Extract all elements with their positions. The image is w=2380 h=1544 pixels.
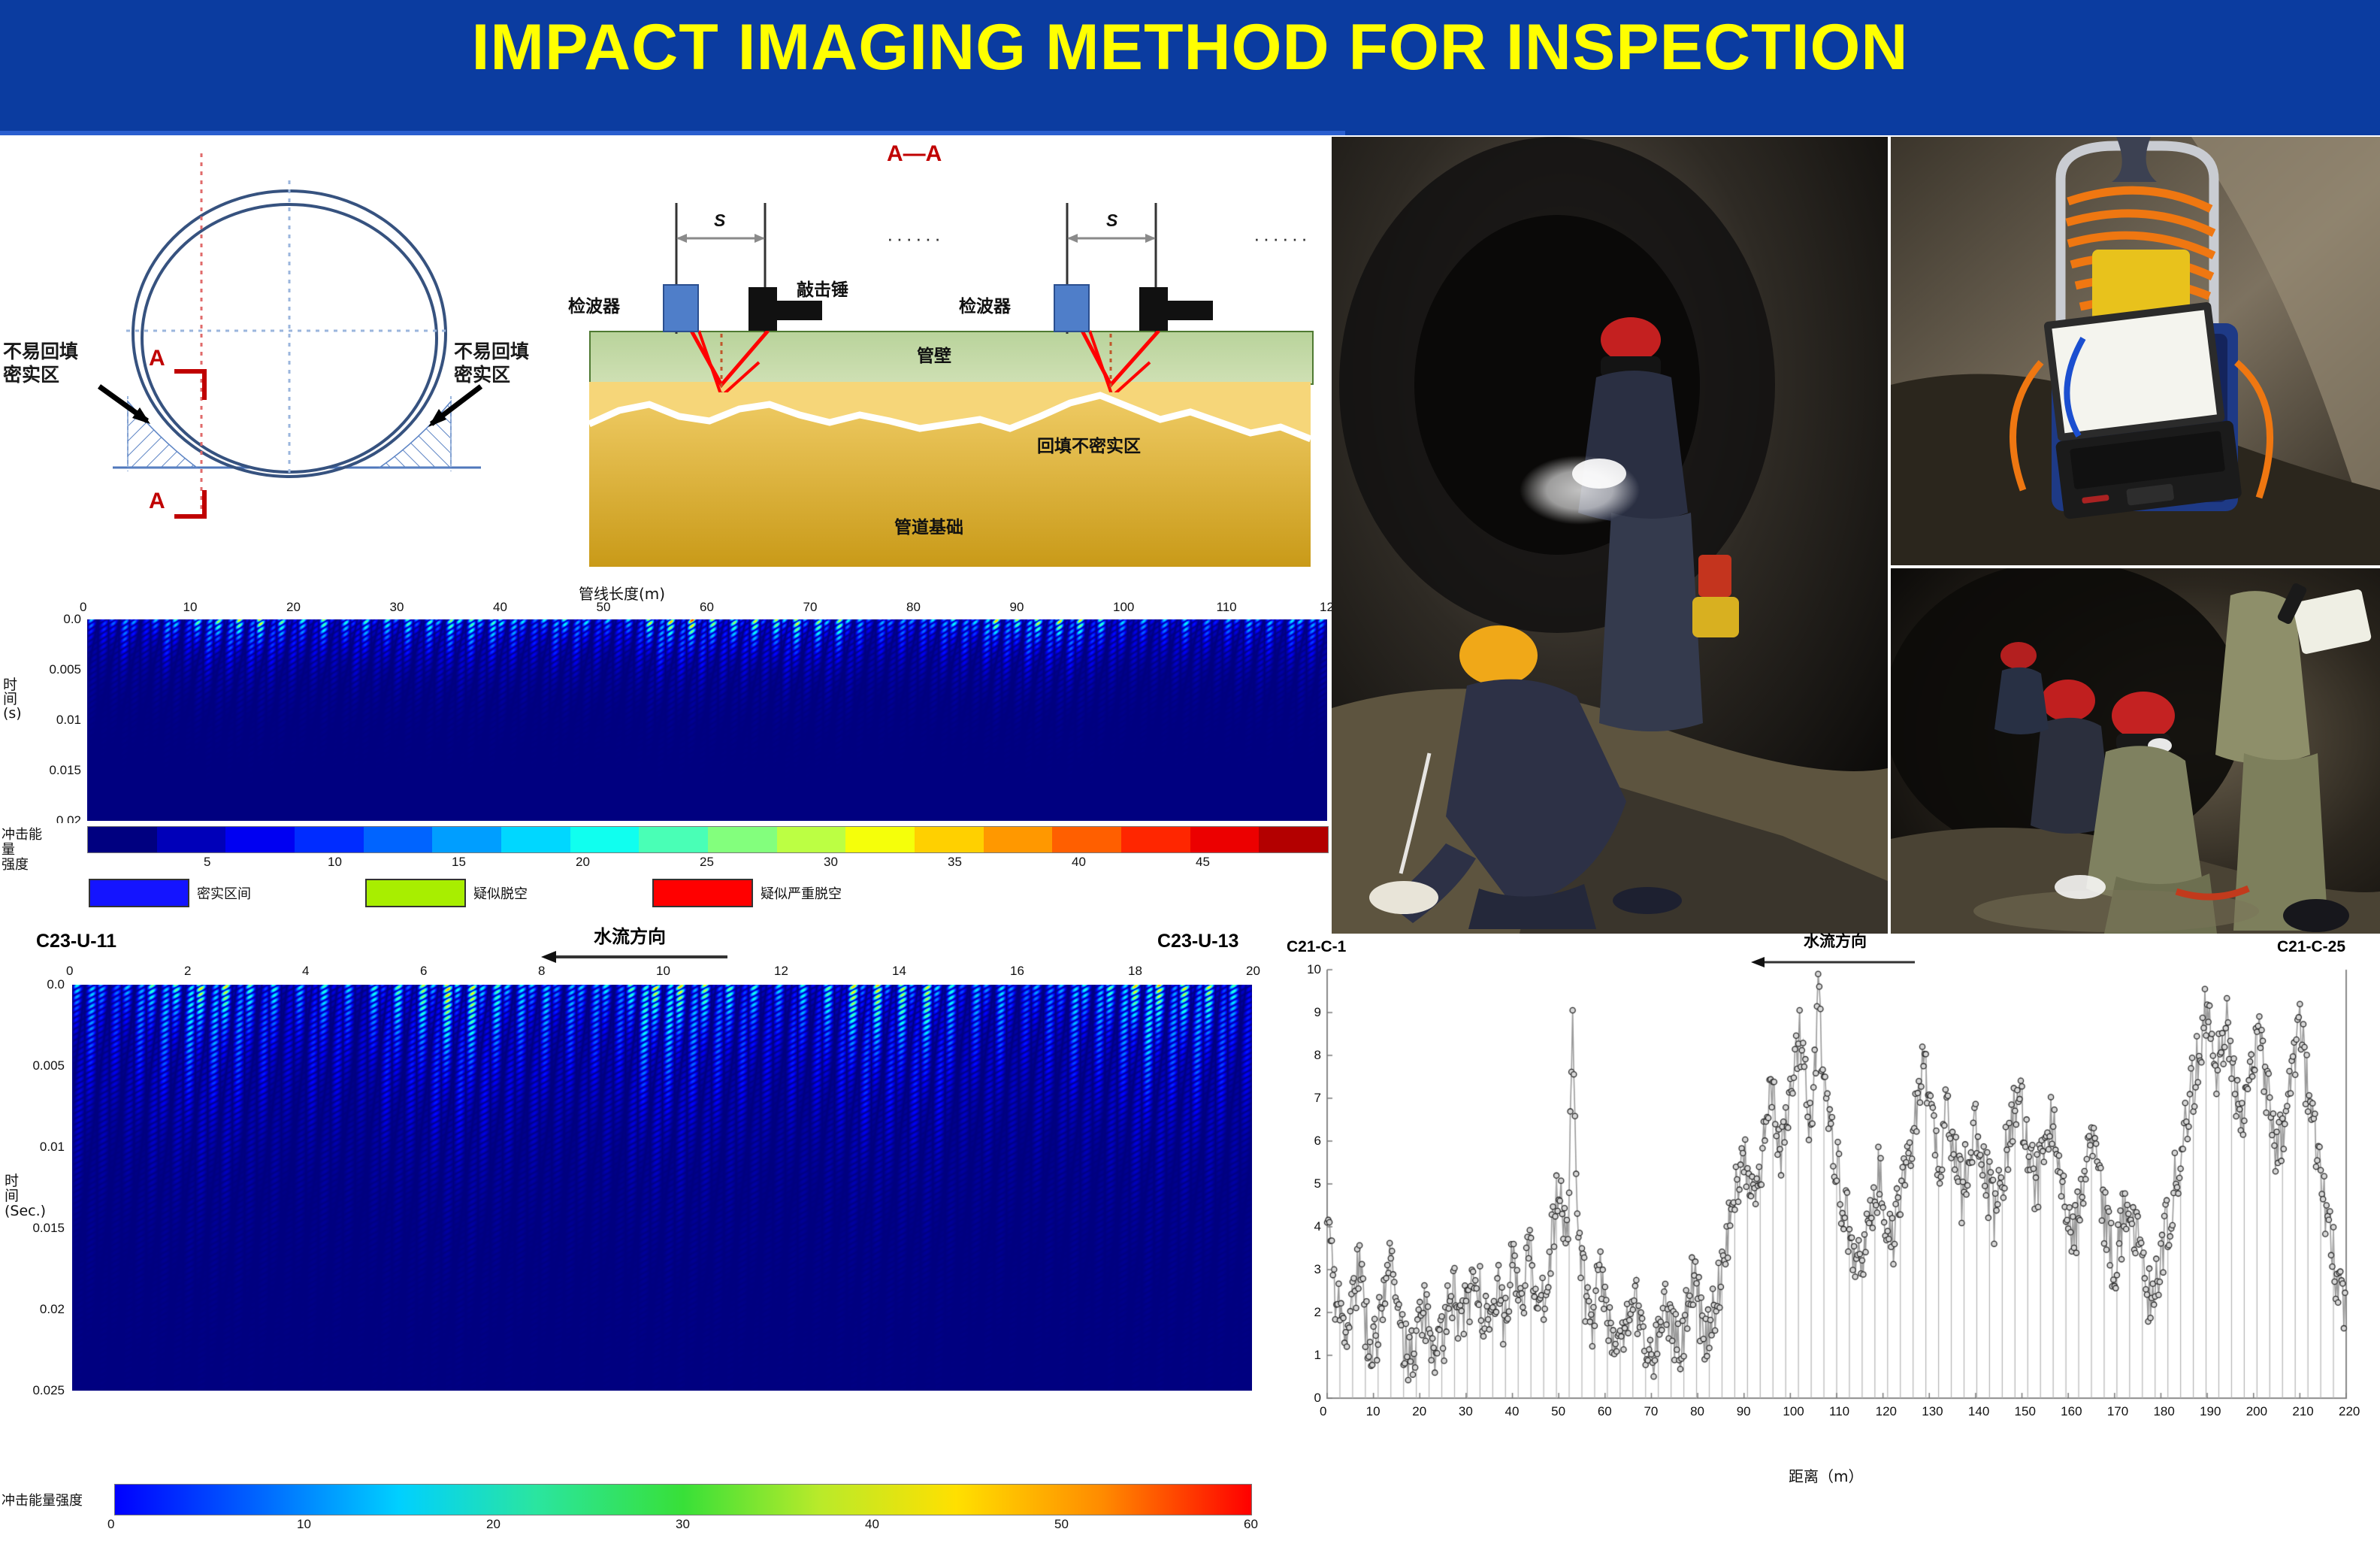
impact-energy-colorbar-label: 冲击能量 强度 [2,828,45,872]
flow-direction-arrow-icon-c23 [541,949,729,965]
impact-energy-bottom-colorbar-block: 冲击能量强度 0102030405060 [0,1479,1278,1539]
legend-label-severe-void: 疑似严重脱空 [761,883,842,903]
seismic-c23-flow-label: 水流方向 [594,922,666,948]
axis-tick-label: 4 [1276,1219,1321,1234]
seismic-c23-right-label: C23-U-13 [1157,931,1238,952]
axis-tick-label: 40 [1505,1404,1520,1419]
colorbar-segment [845,827,915,852]
section-marker-a-bottom: A [149,489,165,514]
colorbar-segment [1259,827,1328,852]
impact-energy-colorbar-block: 冲击能量 强度 51015202530354045 密实区间 疑似脱空 疑似严重… [0,823,1330,921]
axis-tick-label: 20 [1412,1404,1426,1419]
axis-tick-label: 80 [1690,1404,1704,1419]
loose-backfill-label: 回填不密实区 [1037,431,1141,457]
axis-tick-label: 170 [2107,1404,2128,1419]
axis-tick-label: 0.015 [20,1221,65,1236]
axis-tick-label: 0.025 [20,1383,65,1398]
axis-tick-label: 90 [1737,1404,1751,1419]
axis-tick-label: 30 [390,600,404,615]
axis-tick-label: 35 [948,855,962,870]
axis-tick-label: 0.01 [36,713,81,728]
axis-tick-label: 130 [1922,1404,1943,1419]
axis-tick-label: 0 [1276,1391,1321,1406]
axis-tick-label: 0 [1320,1404,1326,1419]
pipe-foundation-label: 管道基础 [894,513,963,538]
axis-tick-label: 50 [1551,1404,1565,1419]
axis-tick-label: 3 [1276,1262,1321,1277]
axis-tick-label: 5 [1276,1176,1321,1191]
spacing-label-1: S [714,210,725,231]
axis-tick-label: 70 [1644,1404,1658,1419]
colorbar-segment [364,827,433,852]
page-title: IMPACT IMAGING METHOD FOR INSPECTION [0,11,2380,85]
axis-tick-label: 110 [1829,1404,1849,1419]
axis-tick-label: 6 [420,964,427,979]
legend-swatch-suspected-void [365,879,466,907]
axis-tick-label: 9 [1276,1005,1321,1020]
spacing-label-2: S [1106,210,1117,231]
axis-tick-label: 220 [2339,1404,2360,1419]
axis-tick-label: 0.0 [36,612,81,627]
seismic-long-xlabel: 管线长度(m) [579,582,665,604]
axis-tick-label: 20 [286,600,301,615]
colorbar-segment [88,827,157,852]
geophone-icon-1 [663,284,699,332]
colorbar-segment [501,827,570,852]
axis-tick-label: 12 [774,964,788,979]
axis-tick-label: 2 [1276,1305,1321,1320]
profile-left-label: C21-C-1 [1287,938,1346,956]
axis-tick-label: 10 [1366,1404,1381,1419]
axis-tick-label: 18 [1128,964,1142,979]
legend-swatch-severe-void [652,879,753,907]
legend-swatch-dense [89,879,189,907]
axis-tick-label: 15 [452,855,466,870]
photo-tunnel-inspection-crew [1332,137,1888,934]
axis-tick-label: 6 [1276,1134,1321,1149]
impact-energy-bottom-colorbar [114,1484,1252,1515]
geophone-label-2: 检波器 [959,292,1011,317]
impact-hammer-icon-2-handle [1159,301,1213,320]
axis-tick-label: 40 [1072,855,1086,870]
impact-hammer-icon-1-handle [768,301,822,320]
axis-tick-label: 40 [493,600,507,615]
banner-underline [0,131,1345,135]
geophone-label-1: 检波器 [568,292,620,317]
axis-tick-label: 0.015 [36,763,81,778]
axis-tick-label: 20 [576,855,590,870]
axis-tick-label: 60 [1244,1517,1258,1532]
seismic-c23-plot-area [72,985,1252,1391]
profile-flow-label: 水流方向 [1804,929,1867,952]
colorbar-segment [1190,827,1260,852]
axis-tick-label: 16 [1010,964,1024,979]
impact-energy-profile-chart: C21-C-1 C21-C-25 水流方向 距离（m） 010203040506… [1278,938,2380,1544]
axis-tick-label: 120 [1876,1404,1897,1419]
seismic-section-long-chart: 管线长度(m) 时间(s) 01020304050607080901001101… [0,580,1330,828]
loose-backfill-interface-svg [589,382,1311,567]
axis-tick-label: 100 [1783,1404,1804,1419]
axis-tick-label: 10 [1276,962,1321,977]
axis-tick-label: 140 [1968,1404,1989,1419]
axis-tick-label: 10 [297,1517,311,1532]
profile-xlabel: 距离（m） [1789,1464,1863,1486]
axis-tick-label: 2 [184,964,191,979]
colorbar-segment [157,827,226,852]
slide-root: IMPACT IMAGING METHOD FOR INSPECTION [0,0,2380,1544]
geophone-icon-2 [1054,284,1090,332]
legend-label-suspected-void: 疑似脱空 [473,883,528,903]
axis-tick-label: 180 [2153,1404,2174,1419]
colorbar-segment [708,827,777,852]
axis-tick-label: 60 [700,600,714,615]
axis-tick-label: 160 [2061,1404,2082,1419]
ellipsis-2: ······ [1254,227,1311,250]
axis-tick-label: 20 [1246,964,1260,979]
colorbar-segment [295,827,364,852]
seismic-long-plot-area [87,619,1327,821]
label-right-backfill: 不易回填 密实区 [454,340,574,387]
axis-tick-label: 7 [1276,1091,1321,1106]
axis-tick-label: 0.005 [36,662,81,677]
axis-tick-label: 4 [302,964,309,979]
axis-tick-label: 200 [2246,1404,2267,1419]
axis-tick-label: 0 [107,1517,114,1532]
axis-tick-label: 10 [183,600,198,615]
pipe-cross-section-diagram: 不易回填 密实区 不易回填 密实区 A A [0,137,571,580]
axis-tick-label: 190 [2200,1404,2221,1419]
axis-tick-label: 10 [656,964,670,979]
axis-tick-label: 150 [2015,1404,2036,1419]
axis-tick-label: 30 [824,855,838,870]
axis-tick-label: 5 [204,855,210,870]
section-aa-diagram: A—A 管壁 回填不密实区 管道基础 [571,137,1330,580]
axis-tick-label: 70 [803,600,818,615]
axis-tick-label: 20 [486,1517,500,1532]
axis-tick-label: 40 [865,1517,879,1532]
axis-tick-label: 50 [597,600,611,615]
impact-energy-bottom-label: 冲击能量强度 [2,1490,83,1509]
seismic-section-c23-chart: C23-U-11 C23-U-13 水流方向 时间 (Sec.) 0246810… [0,926,1278,1452]
axis-tick-label: 0.01 [20,1140,65,1155]
axis-tick-label: 1 [1276,1348,1321,1363]
profile-right-label: C21-C-25 [2277,938,2345,956]
impact-energy-step-colorbar [87,826,1329,853]
axis-tick-label: 100 [1113,600,1134,615]
axis-tick-label: 110 [1217,600,1237,615]
axis-tick-label: 10 [328,855,342,870]
section-marker-a-top: A [149,346,165,371]
colorbar-segment [915,827,984,852]
colorbar-segment [639,827,708,852]
label-left-backfill: 不易回填 密实区 [3,340,116,387]
axis-tick-label: 0 [66,964,73,979]
axis-tick-label: 210 [2292,1404,2313,1419]
colorbar-segment [1121,827,1190,852]
axis-tick-label: 25 [700,855,714,870]
axis-tick-label: 90 [1010,600,1024,615]
seismic-c23-left-label: C23-U-11 [36,931,116,952]
photo-acquisition-laptop-equipment [1891,137,2380,565]
impact-hammer-label: 敲击锤 [797,275,848,301]
axis-tick-label: 0.02 [20,1302,65,1317]
colorbar-segment [570,827,640,852]
colorbar-segment [225,827,295,852]
axis-tick-label: 0.0 [20,977,65,992]
seismic-long-ylabel: 时间(s) [3,678,23,721]
legend-label-dense: 密实区间 [197,883,251,903]
seismic-c23-ylabel: 时间 (Sec.) [5,1174,24,1219]
axis-tick-label: 60 [1598,1404,1612,1419]
axis-tick-label: 0.005 [20,1058,65,1073]
photo-crew-recording-measurements [1891,568,2380,934]
axis-tick-label: 45 [1196,855,1210,870]
colorbar-segment [777,827,846,852]
axis-tick-label: 14 [892,964,906,979]
colorbar-segment [984,827,1053,852]
axis-tick-label: 30 [676,1517,690,1532]
axis-tick-label: 8 [1276,1048,1321,1063]
axis-tick-label: 30 [1459,1404,1473,1419]
axis-tick-label: 50 [1054,1517,1069,1532]
profile-plot-area [1300,965,2352,1431]
title-banner: IMPACT IMAGING METHOD FOR INSPECTION [0,0,2380,135]
axis-tick-label: 80 [906,600,921,615]
colorbar-segment [1052,827,1121,852]
instruments-svg [571,137,1330,392]
colorbar-segment [432,827,501,852]
axis-tick-label: 8 [538,964,545,979]
ellipsis-1: ······ [887,227,944,250]
